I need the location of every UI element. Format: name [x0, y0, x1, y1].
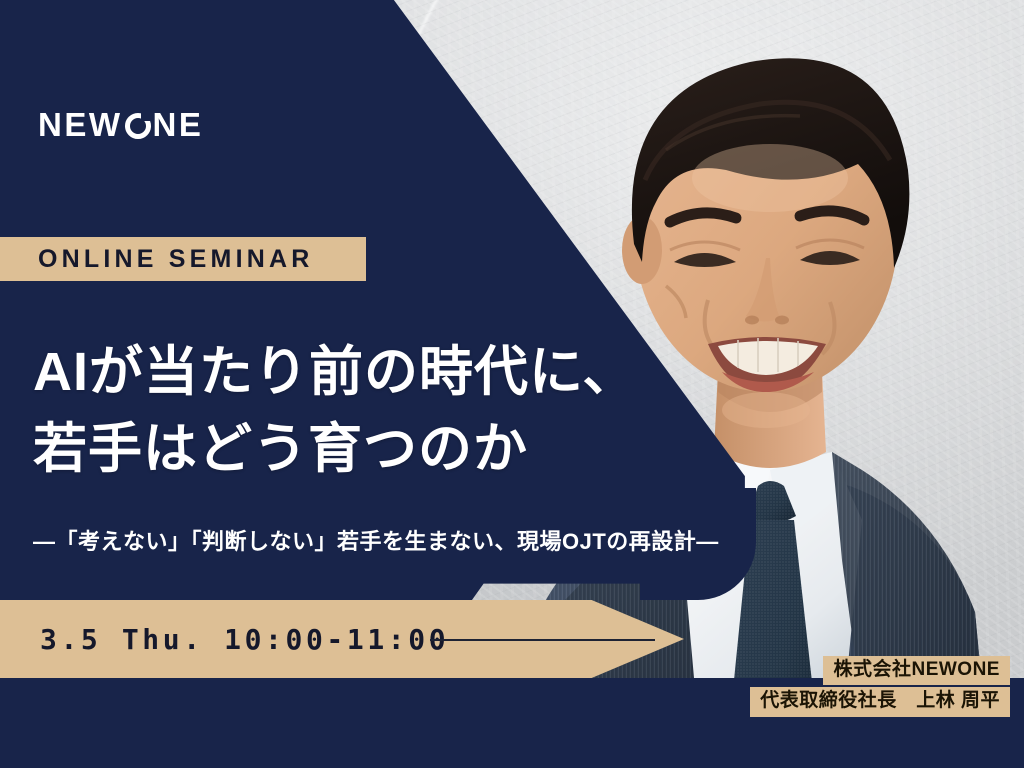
headline-line-1: AIが当たり前の時代に、 [33, 334, 637, 411]
speaker-company: 株式会社NEWONE [823, 656, 1010, 685]
logo-text-prefix: NEW [38, 108, 123, 141]
logo-o-ring-icon [125, 113, 151, 139]
online-seminar-badge: ONLINE SEMINAR [0, 237, 366, 281]
subtitle: ―「考えない」「判断しない」若手を生まない、現場OJTの再設計― [33, 524, 719, 556]
schedule-divider-rule [430, 639, 655, 641]
headline-line-2: 若手はどう育つのか [33, 411, 637, 488]
speaker-title-name: 代表取締役社長 上林 周平 [750, 687, 1010, 716]
page-title: AIが当たり前の時代に、 若手はどう育つのか [33, 334, 637, 487]
seminar-banner: NEW NE ONLINE SEMINAR AIが当たり前の時代に、 若手はどう… [0, 0, 1024, 768]
logo-text-suffix: NE [153, 108, 204, 141]
newone-logo[interactable]: NEW NE [38, 108, 203, 141]
speaker-credit: 株式会社NEWONE 代表取締役社長 上林 周平 [750, 656, 1010, 717]
online-seminar-badge-label: ONLINE SEMINAR [0, 245, 313, 274]
schedule-datetime: 3.5 Thu. 10:00-11:00 [0, 623, 449, 656]
